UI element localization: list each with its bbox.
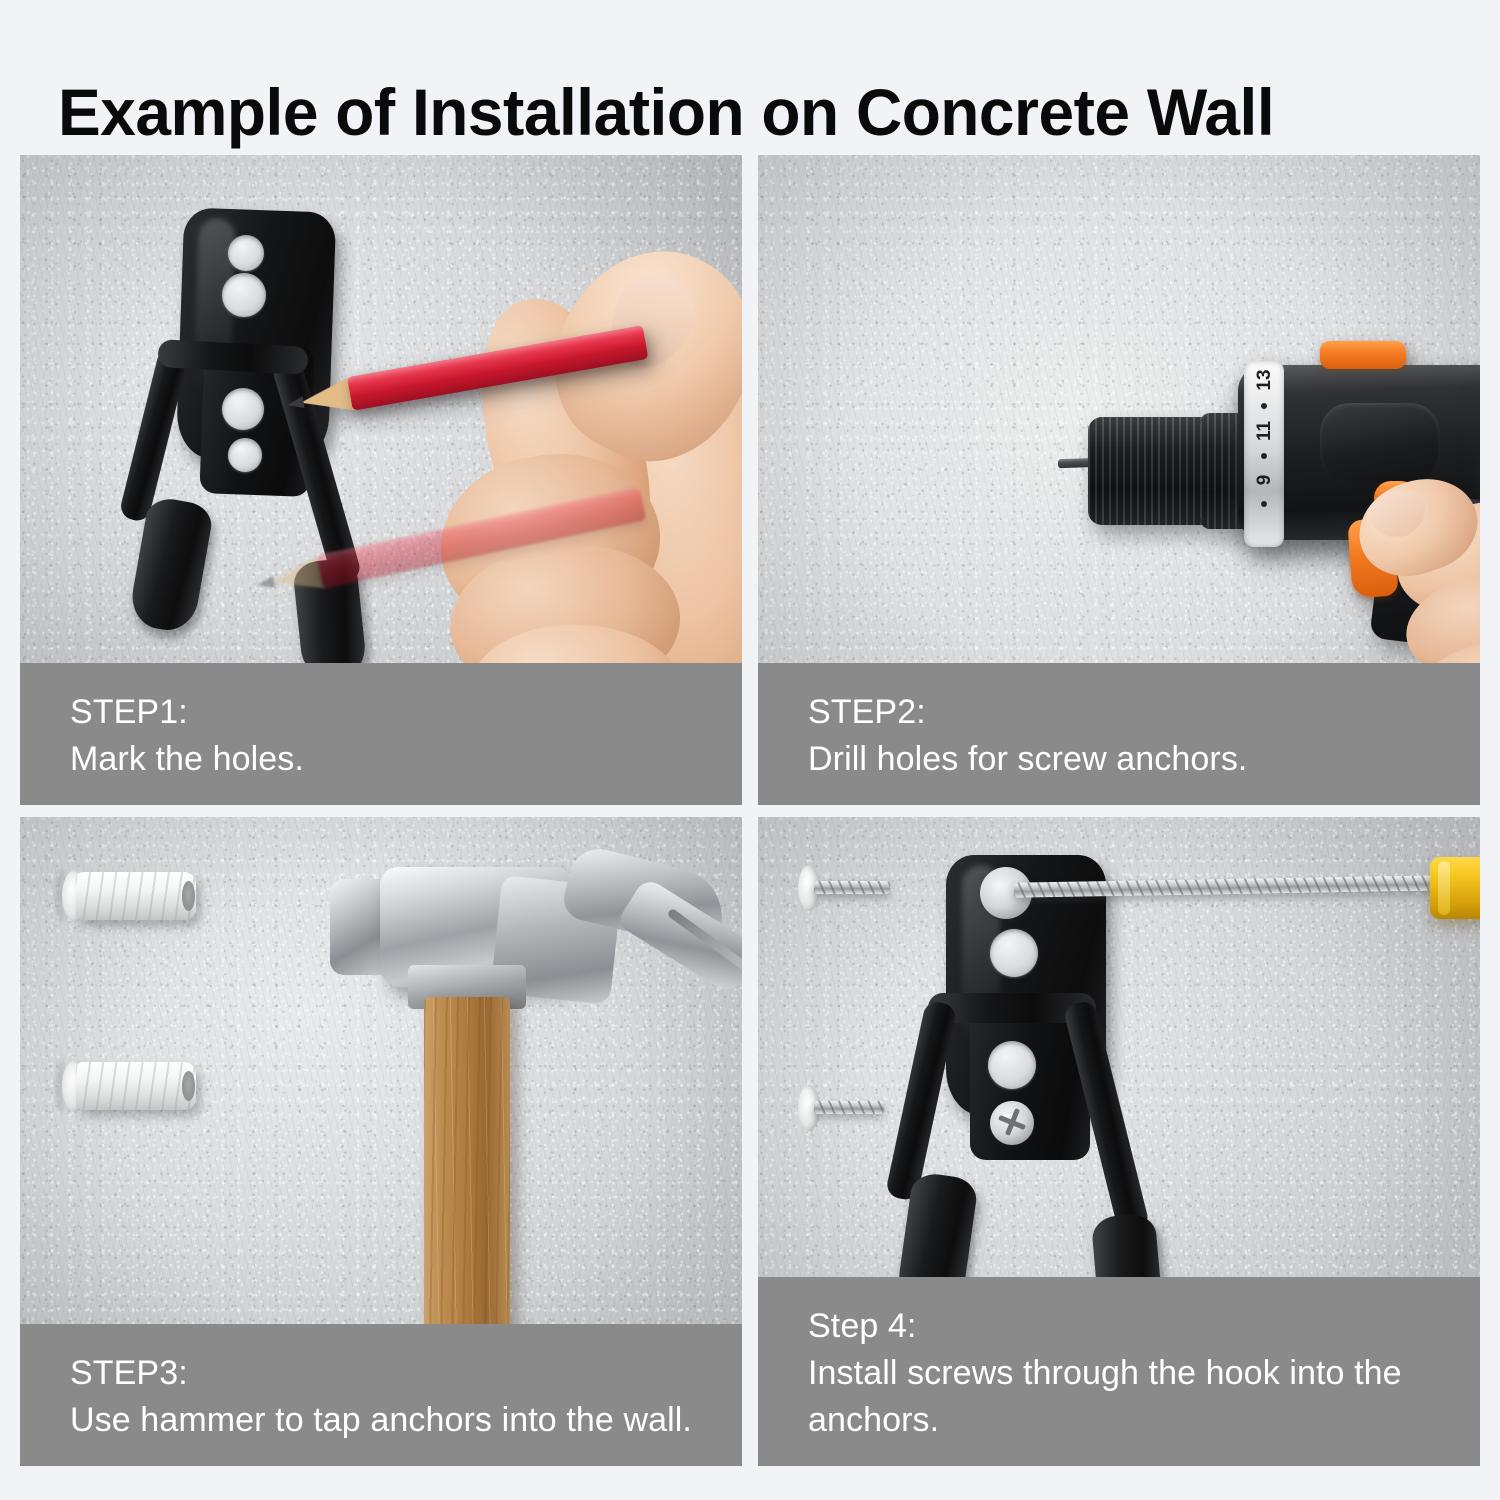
step-2-label: STEP2: [808,689,1480,736]
mounting-hole-upper [222,273,266,317]
page-title: Example of Installation on Concrete Wall [58,74,1274,150]
step-panel-2: 13 11 9 [758,155,1480,805]
mounting-hole-top [228,235,264,271]
step-1-text: Mark the holes. [70,736,742,783]
drill-chuck [1088,417,1218,525]
step-panel-1: STEP1: Mark the holes. [20,155,742,805]
step-4-caption: Step 4: Install screws through the hook … [758,1277,1480,1466]
step-1-caption: STEP1: Mark the holes. [20,663,742,805]
clutch-dot [1261,403,1267,409]
mounting-hole-lower [988,1041,1036,1089]
step-3-label: STEP3: [70,1350,742,1397]
screwdriver-handle-ridge [1438,861,1450,915]
screwdriver [1430,851,1480,931]
step-1-label: STEP1: [70,689,742,736]
clutch-dot [1261,453,1267,459]
installation-guide-page: Example of Installation on Concrete Wall [0,0,1500,1500]
anchor-bore [182,881,195,911]
clutch-number-11: 11 [1254,415,1276,447]
anchor-screw-threads [814,1101,884,1114]
mounting-hole-upper [990,929,1038,977]
clutch-number-9: 9 [1254,466,1276,494]
wall-anchor-top [798,865,918,911]
clutch-dot [1261,501,1267,507]
wall-anchor-bottom [60,1059,220,1113]
mounting-hole-lower [222,388,264,430]
step-4-text: Install screws through the hook into the… [808,1350,1480,1444]
step-2-caption: STEP2: Drill holes for screw anchors. [758,663,1480,805]
steps-grid: STEP1: Mark the holes. 13 [20,155,1480,1466]
step-3-text: Use hammer to tap anchors into the wall. [70,1397,742,1444]
wall-anchor-top [60,869,220,923]
anchor-screw-threads [814,881,890,894]
step-2-text: Drill holes for screw anchors. [808,736,1480,783]
step-3-caption: STEP3: Use hammer to tap anchors into th… [20,1324,742,1466]
anchor-bore [182,1071,195,1101]
anchor-body [76,1062,196,1110]
step-4-label: Step 4: [808,1303,1480,1350]
drill-direction-switch-top [1320,341,1406,369]
hook-arm-left [118,346,189,523]
clutch-number-13: 13 [1254,364,1276,396]
drill-housing-inset [1320,403,1440,483]
anchor-body [76,872,196,920]
step-panel-4: Step 4: Install screws through the hook … [758,817,1480,1466]
mounting-hole-bottom [228,438,262,472]
step-panel-3: STEP3: Use hammer to tap anchors into th… [20,817,742,1466]
